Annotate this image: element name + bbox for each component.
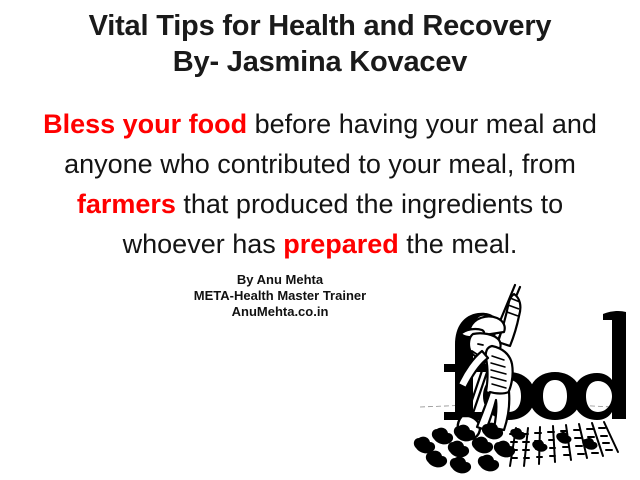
- body-line-3: farmers that produced the ingredients to: [14, 184, 626, 224]
- body-paragraph: Bless your food before having your meal …: [14, 104, 626, 264]
- title-line-2: By- Jasmina Kovacev: [0, 44, 640, 80]
- highlight-prepared: prepared: [283, 229, 399, 259]
- highlight-farmers: farmers: [77, 189, 176, 219]
- page-title: Vital Tips for Health and Recovery By- J…: [0, 8, 640, 80]
- food-farmer-clipart-icon: [398, 276, 640, 480]
- crop-field: [414, 422, 618, 473]
- crop-rows: [510, 422, 618, 466]
- slide-canvas: Vital Tips for Health and Recovery By- J…: [0, 0, 640, 480]
- body-line-3-rest: that produced the ingredients to: [176, 189, 563, 219]
- food-farmer-illustration: [398, 276, 640, 480]
- body-line-4: whoever has prepared the meal.: [14, 224, 626, 264]
- body-line-1: Bless your food before having your meal …: [14, 104, 626, 144]
- body-line-4-before: whoever has: [123, 229, 284, 259]
- highlight-bless-your-food: Bless your food: [43, 109, 247, 139]
- title-line-1: Vital Tips for Health and Recovery: [0, 8, 640, 44]
- body-line-4-after: the meal.: [399, 229, 518, 259]
- crop-heads: [414, 423, 515, 474]
- body-line-1-rest: before having your meal and: [247, 109, 597, 139]
- body-line-2: anyone who contributed to your meal, fro…: [14, 144, 626, 184]
